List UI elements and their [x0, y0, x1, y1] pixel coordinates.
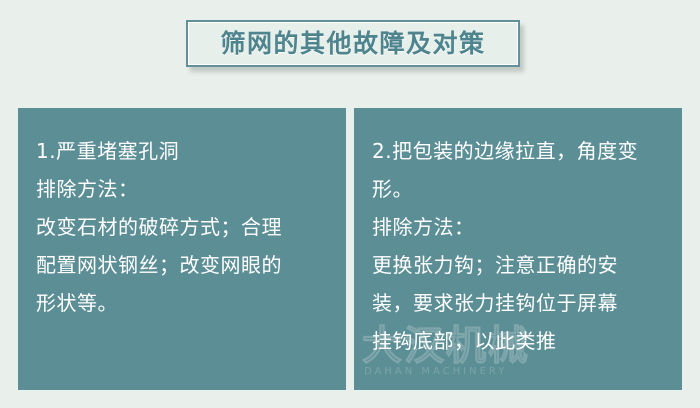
- panel-left-line-4: 配置网状钢丝；改变网眼的: [36, 246, 332, 284]
- watermark-en-text: DAHAN MACHINERY: [364, 366, 507, 377]
- panel-left-line-1: 1.严重堵塞孔洞: [36, 132, 332, 170]
- page-title: 筛网的其他故障及对策: [220, 31, 485, 56]
- panel-right-body: 2.把包装的边缘拉直，角度变 形。 排除方法： 更换张力钩；注意正确的安 装，要…: [354, 108, 682, 360]
- panel-left-body: 1.严重堵塞孔洞 排除方法： 改变石材的破碎方式；合理 配置网状钢丝；改变网眼的…: [18, 108, 346, 322]
- panel-right-line-1: 2.把包装的边缘拉直，角度变: [372, 132, 668, 170]
- panel-left-line-3: 改变石材的破碎方式；合理: [36, 208, 332, 246]
- slide-root: 筛网的其他故障及对策 1.严重堵塞孔洞 排除方法： 改变石材的破碎方式；合理 配…: [0, 0, 700, 408]
- title-banner-box: 筛网的其他故障及对策: [186, 20, 520, 67]
- panel-right-line-2: 形。: [372, 170, 668, 208]
- title-banner-inner-border: 筛网的其他故障及对策: [188, 22, 518, 65]
- panel-right-line-4: 更换张力钩；注意正确的安: [372, 246, 668, 284]
- content-panels: 1.严重堵塞孔洞 排除方法： 改变石材的破碎方式；合理 配置网状钢丝；改变网眼的…: [18, 108, 682, 390]
- panel-right: 2.把包装的边缘拉直，角度变 形。 排除方法： 更换张力钩；注意正确的安 装，要…: [354, 108, 682, 390]
- panel-right-line-5: 装，要求张力挂钩位于屏幕: [372, 284, 668, 322]
- panel-left-line-5: 形状等。: [36, 284, 332, 322]
- panel-right-line-3: 排除方法：: [372, 208, 668, 246]
- title-banner: 筛网的其他故障及对策: [186, 20, 520, 67]
- panel-right-line-6: 挂钩底部，以此类推: [372, 322, 668, 360]
- panel-left-line-2: 排除方法：: [36, 170, 332, 208]
- panel-left: 1.严重堵塞孔洞 排除方法： 改变石材的破碎方式；合理 配置网状钢丝；改变网眼的…: [18, 108, 346, 390]
